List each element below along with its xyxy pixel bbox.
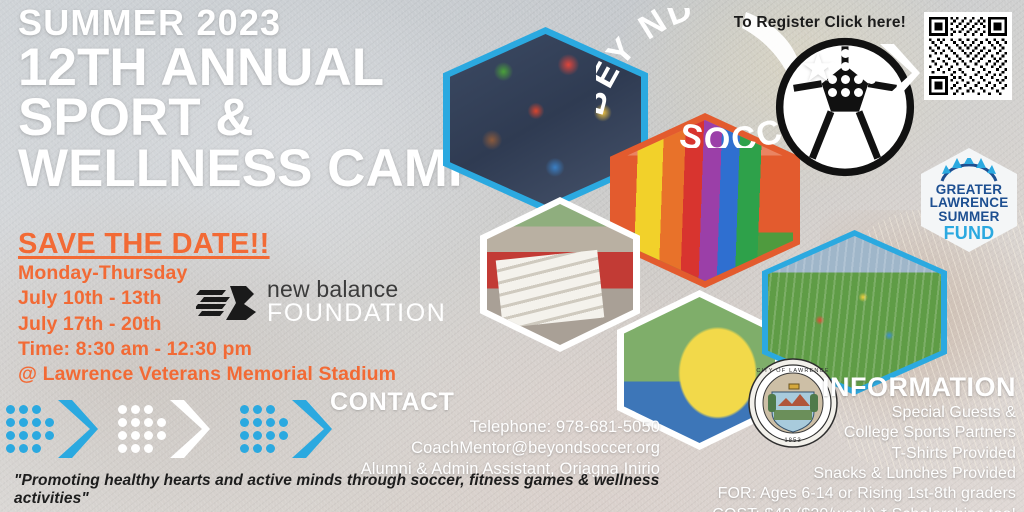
sponsor-new-balance-foundation: new balance FOUNDATION	[196, 278, 446, 325]
chevron-arrow-blue-2	[240, 398, 332, 460]
chevron-right-icon	[56, 398, 98, 460]
save-the-date-time: Time: 8:30 am - 12:30 pm	[18, 337, 488, 362]
photo-signin-table	[487, 204, 633, 345]
dot-grid	[828, 49, 876, 97]
info-special-guests: Special Guests &	[656, 403, 1016, 423]
new-balance-n-logo-icon	[196, 282, 258, 322]
info-tshirts: T-Shirts Provided	[656, 444, 1016, 464]
save-the-date-venue: @ Lawrence Veterans Memorial Stadium	[18, 362, 488, 387]
chevron-right-icon	[878, 42, 920, 104]
sunburst-icon	[938, 158, 1000, 182]
chevron-arrow-white	[118, 398, 210, 460]
chevron-right-icon	[290, 398, 332, 460]
mission-tagline: "Promoting healthy hearts and active min…	[14, 472, 714, 508]
photo-tiedye-tshirts	[617, 120, 793, 281]
greater-lawrence-summer-fund-badge: GREATER LAWRENCE SUMMER FUND	[921, 148, 1017, 252]
registration-qr-code[interactable]	[924, 12, 1012, 100]
info-college-partners: College Sports Partners	[656, 423, 1016, 443]
contact-telephone[interactable]: Telephone: 978-681-5050	[330, 417, 660, 438]
dot-grid	[240, 405, 288, 453]
poster-canvas: SUMMER 2023 12TH ANNUAL SPORT & WELLNESS…	[0, 0, 1024, 512]
glsf-line-summer: SUMMER	[938, 210, 999, 224]
dot-grid	[118, 405, 166, 453]
dot-grid	[6, 405, 54, 453]
register-callout[interactable]: To Register Click here!	[734, 14, 906, 32]
glsf-line-lawrence: LAWRENCE	[930, 196, 1009, 210]
save-the-date-title: SAVE THE DATE!!	[18, 228, 488, 261]
headline-line-summer: SUMMER 2023	[18, 6, 538, 41]
new-balance-name: new balance	[267, 278, 446, 301]
glsf-line-fund: FUND	[944, 224, 995, 242]
information-title: INFORMATION	[656, 372, 1016, 403]
contact-email[interactable]: CoachMentor@beyondsoccer.org	[330, 438, 660, 459]
new-balance-wordmark: new balance FOUNDATION	[267, 278, 446, 325]
new-balance-foundation-name: FOUNDATION	[267, 301, 446, 326]
contact-block: CONTACT Telephone: 978-681-5050 CoachMen…	[330, 388, 660, 480]
contact-title: CONTACT	[330, 388, 660, 417]
qr-code-icon	[929, 17, 1007, 95]
chevron-right-icon	[168, 398, 210, 460]
chevron-arrow-blue-1	[6, 398, 98, 460]
glsf-line-greater: GREATER	[936, 183, 1002, 197]
chevron-arrow-register	[828, 42, 920, 104]
